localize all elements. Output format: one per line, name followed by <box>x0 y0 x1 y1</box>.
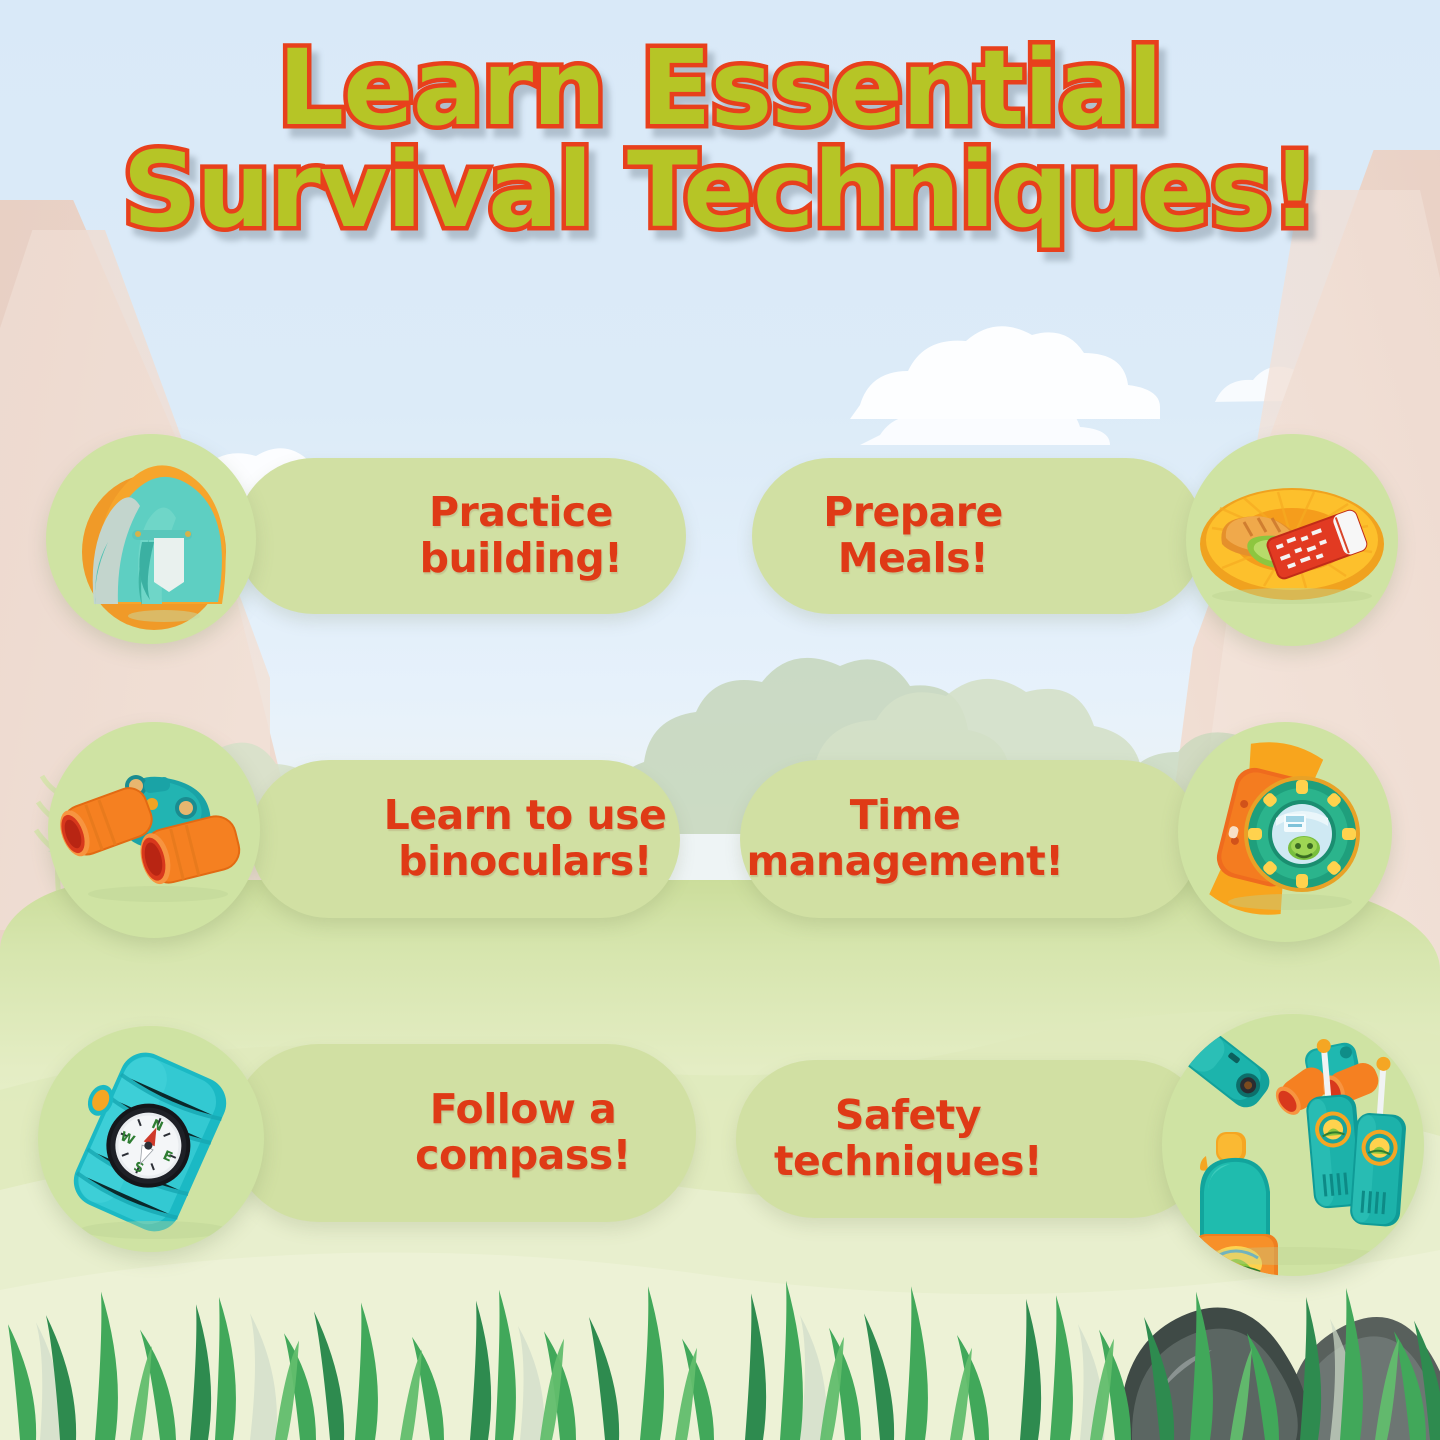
toy-binoculars-icon <box>48 722 260 938</box>
tent-photo-bubble[interactable] <box>46 434 256 644</box>
pop-up-tent-icon <box>46 434 256 644</box>
feature-label: Safety techniques! <box>774 1093 1042 1185</box>
feature-pill-prepare-meals[interactable]: Prepare Meals! <box>752 458 1204 614</box>
feature-pill-safety-techniques[interactable]: Safety techniques! <box>736 1060 1210 1218</box>
feature-label: Prepare Meals! <box>752 490 1074 582</box>
feature-label: Learn to use binoculars! <box>384 793 667 885</box>
toy-food-plate-icon <box>1186 434 1398 646</box>
title-line-1: Learn Essential <box>0 38 1440 140</box>
feature-pill-learn-binoculars[interactable]: Learn to use binoculars! <box>250 760 680 918</box>
feature-label: Follow a compass! <box>350 1087 696 1179</box>
feature-label: Time management! <box>740 793 1070 885</box>
grass-blades-svg <box>0 1250 1440 1440</box>
meal-photo-bubble[interactable] <box>1186 434 1398 646</box>
feature-pill-practice-building[interactable]: Practice building! <box>236 458 686 614</box>
compass-photo-bubble[interactable]: N S W E <box>38 1026 264 1252</box>
compass-flashlight-icon: N S W E <box>38 1026 264 1252</box>
safety-kit-icon <box>1162 1014 1424 1276</box>
feature-pill-time-management[interactable]: Time management! <box>740 760 1200 918</box>
title-line-2: Survival Techniques! <box>0 140 1440 242</box>
safety-kit-photo-bubble[interactable] <box>1162 1014 1424 1276</box>
toy-wrist-watch-icon <box>1178 722 1392 942</box>
page-title: Learn Essential Survival Techniques! <box>0 38 1440 242</box>
watch-photo-bubble[interactable] <box>1178 722 1392 942</box>
feature-pill-follow-compass[interactable]: Follow a compass! <box>230 1044 696 1222</box>
poster-canvas: Learn Essential Survival Techniques! Pra… <box>0 0 1440 1440</box>
feature-label: Practice building! <box>356 490 686 582</box>
binoculars-photo-bubble[interactable] <box>48 722 260 938</box>
